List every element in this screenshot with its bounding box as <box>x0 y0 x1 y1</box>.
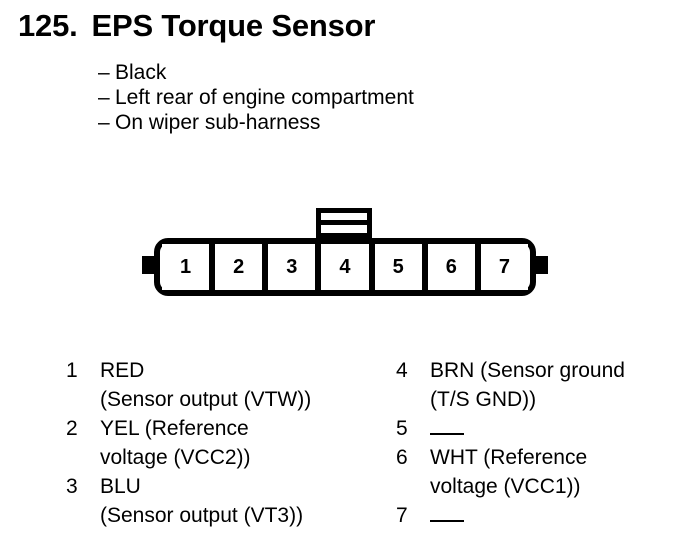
pin-legend-entry-5: 5 <box>396 414 686 443</box>
pin-legend-number: 1 <box>66 356 100 385</box>
description-item: – Left rear of engine compartment <box>98 85 414 110</box>
description-item-label: Left rear of engine compartment <box>115 85 414 110</box>
pin-legend-entry-3: 3 BLU (Sensor output (VT3)) <box>66 472 366 530</box>
pin-legend-label: WHT (Reference voltage (VCC1)) <box>430 443 686 501</box>
latch-slot-upper <box>321 220 367 225</box>
connector-pin-5[interactable]: 5 <box>369 244 422 290</box>
pin-legend-label: RED (Sensor output (VTW)) <box>100 356 366 414</box>
pin-legend-label-line: voltage (VCC2)) <box>100 443 366 472</box>
pin-legend-label: BRN (Sensor ground (T/S GND)) <box>430 356 686 414</box>
connector-nub-left <box>142 256 155 274</box>
pin-legend-label-line: voltage (VCC1)) <box>430 472 686 501</box>
pin-legend-label-line: WHT (Reference <box>430 443 686 472</box>
connector-pin-2[interactable]: 2 <box>209 244 262 290</box>
connector-pin-label: 4 <box>339 256 350 279</box>
pin-legend-column-left: 1 RED (Sensor output (VTW)) 2 YEL (Refer… <box>66 356 366 530</box>
dash-bullet-icon: – <box>98 85 115 110</box>
pin-legend-entry-7: 7 <box>396 501 686 530</box>
pin-legend-number: 6 <box>396 443 430 472</box>
pin-legend-label-line: (Sensor output (VT3)) <box>100 501 366 530</box>
pin-legend-number: 2 <box>66 414 100 443</box>
pin-legend-entry-6: 6 WHT (Reference voltage (VCC1)) <box>396 443 686 501</box>
pin-legend-label-line: (Sensor output (VTW)) <box>100 385 366 414</box>
pin-legend-label-line: (T/S GND)) <box>430 385 686 414</box>
pin-legend-entry-2: 2 YEL (Reference voltage (VCC2)) <box>66 414 366 472</box>
pin-legend-label: YEL (Reference voltage (VCC2)) <box>100 414 366 472</box>
connector-pin-4[interactable]: 4 <box>315 244 368 290</box>
page-title-text: EPS Torque Sensor <box>92 8 376 43</box>
connector-pin-7[interactable]: 7 <box>475 244 528 290</box>
dash-bullet-icon: – <box>98 60 115 85</box>
pin-legend-label-empty <box>430 414 686 443</box>
dash-bullet-icon: – <box>98 110 115 135</box>
empty-pin-dash-icon <box>430 433 464 435</box>
pin-legend-label-line: BLU <box>100 472 366 501</box>
pin-legend-number: 4 <box>396 356 430 385</box>
page-title: 125.EPS Torque Sensor <box>18 8 375 44</box>
connector-pin-label: 3 <box>286 256 297 279</box>
connector-pin-1[interactable]: 1 <box>162 244 209 290</box>
connector-pin-label: 2 <box>233 256 244 279</box>
connector-pin-row: 1 2 3 4 5 6 7 <box>162 244 528 290</box>
pin-legend-number: 3 <box>66 472 100 501</box>
description-item: – Black <box>98 60 414 85</box>
connector-pin-label: 6 <box>446 256 457 279</box>
pin-legend-column-right: 4 BRN (Sensor ground (T/S GND)) 5 6 WHT … <box>396 356 686 530</box>
connector-nub-right <box>535 256 548 274</box>
connector-pin-label: 5 <box>393 256 404 279</box>
pin-legend-number: 7 <box>396 501 430 530</box>
connector-pin-label: 1 <box>180 256 191 279</box>
connector-diagram: 1 2 3 4 5 6 7 <box>140 208 550 308</box>
connector-pin-3[interactable]: 3 <box>262 244 315 290</box>
description-list: – Black – Left rear of engine compartmen… <box>98 60 414 135</box>
page-title-number: 125. <box>18 8 78 43</box>
description-item-label: On wiper sub-harness <box>115 110 320 135</box>
pin-legend-entry-1: 1 RED (Sensor output (VTW)) <box>66 356 366 414</box>
pin-legend-label-empty <box>430 501 686 530</box>
description-item-label: Black <box>115 60 166 85</box>
pin-legend-label-line: RED <box>100 356 366 385</box>
pin-legend-label-line: YEL (Reference <box>100 414 366 443</box>
pin-legend-number: 5 <box>396 414 430 443</box>
pin-legend-label: BLU (Sensor output (VT3)) <box>100 472 366 530</box>
description-item: – On wiper sub-harness <box>98 110 414 135</box>
connector-pin-label: 7 <box>499 256 510 279</box>
pin-legend-entry-4: 4 BRN (Sensor ground (T/S GND)) <box>396 356 686 414</box>
connector-pin-6[interactable]: 6 <box>422 244 475 290</box>
empty-pin-dash-icon <box>430 520 464 522</box>
pin-legend: 1 RED (Sensor output (VTW)) 2 YEL (Refer… <box>0 356 688 556</box>
pin-legend-label-line: BRN (Sensor ground <box>430 356 686 385</box>
